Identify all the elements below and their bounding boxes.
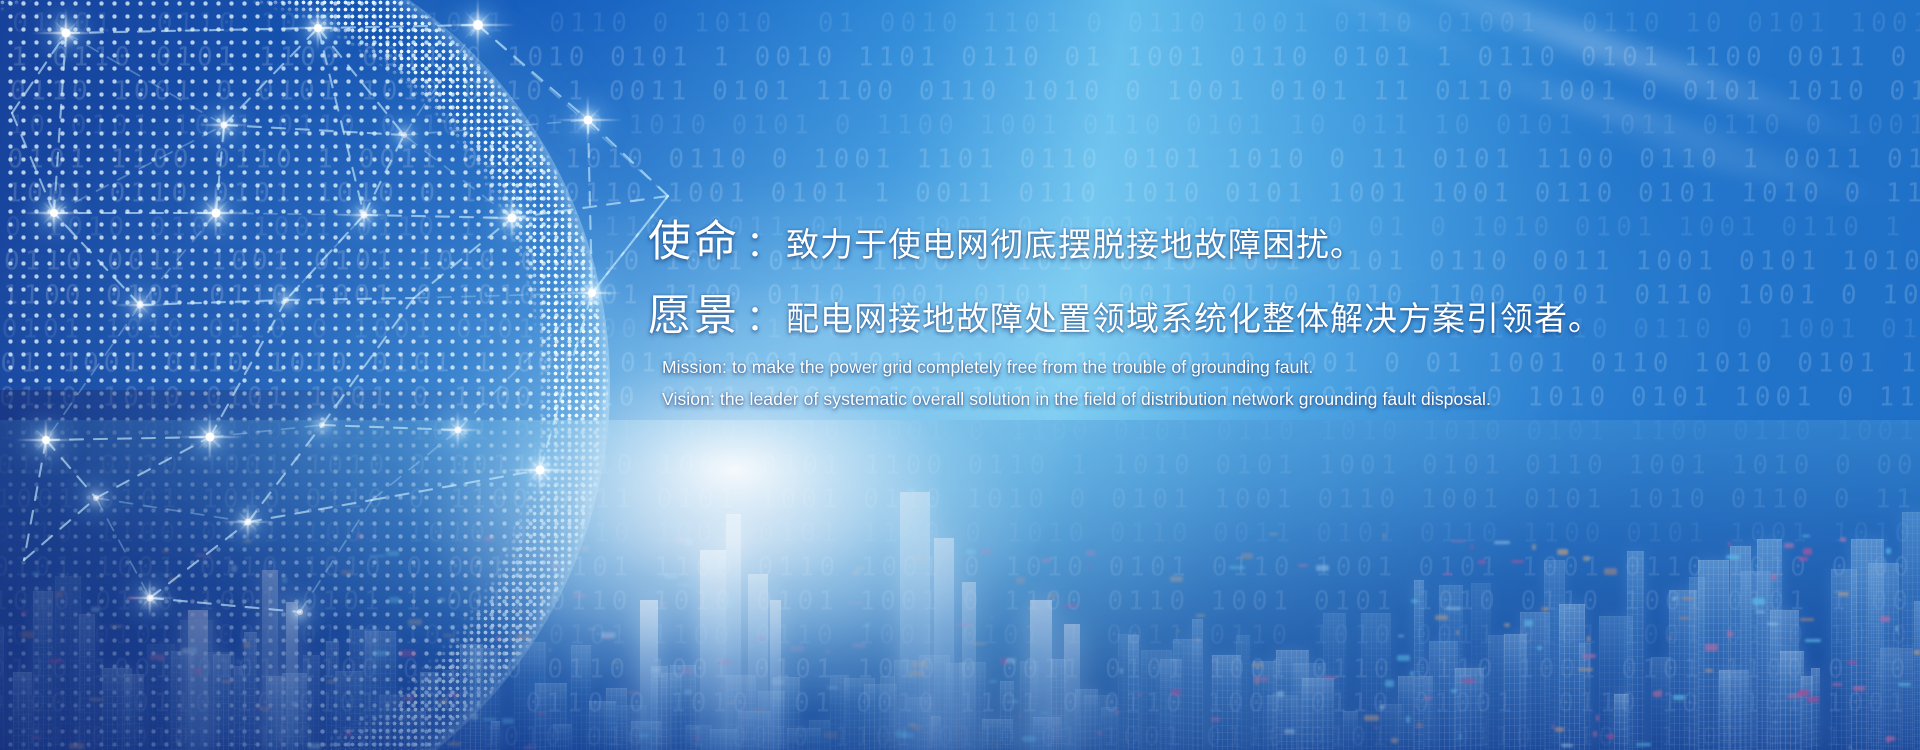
vision-text-cn: 配电网接地故障处置领域系统化整体解决方案引领者。 [786, 292, 1602, 340]
mission-line-cn: 使命 ： 致力于使电网彻底摆脱接地故障困扰。 [648, 207, 1898, 269]
cloud-streak-icon [1351, 0, 1889, 156]
vision-colon: ： [740, 289, 786, 341]
cloud-streak-icon [1258, 0, 1541, 84]
left-vignette [0, 390, 560, 750]
mission-line-en: Mission: to make the power grid complete… [648, 357, 1898, 378]
cloud-streak-icon [1563, 118, 1917, 213]
cloud-streak-icon [1436, 52, 1845, 185]
vision-line-cn: 愿景 ： 配电网接地故障处置领域系统化整体解决方案引领者。 [648, 281, 1898, 343]
vision-label-cn: 愿景 [648, 281, 740, 343]
mission-label-cn: 使命 [648, 207, 740, 269]
mission-text-cn: 致力于使电网彻底摆脱接地故障困扰。 [786, 218, 1364, 266]
mission-vision-copy-block: 使命 ： 致力于使电网彻底摆脱接地故障困扰。 愿景 ： 配电网接地故障处置领域系… [648, 207, 1898, 410]
mission-colon: ： [740, 215, 786, 267]
vision-line-en: Vision: the leader of systematic overall… [648, 389, 1898, 410]
hero-banner: 01001 0110 10 0101 1001 0110 0 1010 01 0… [0, 0, 1920, 750]
